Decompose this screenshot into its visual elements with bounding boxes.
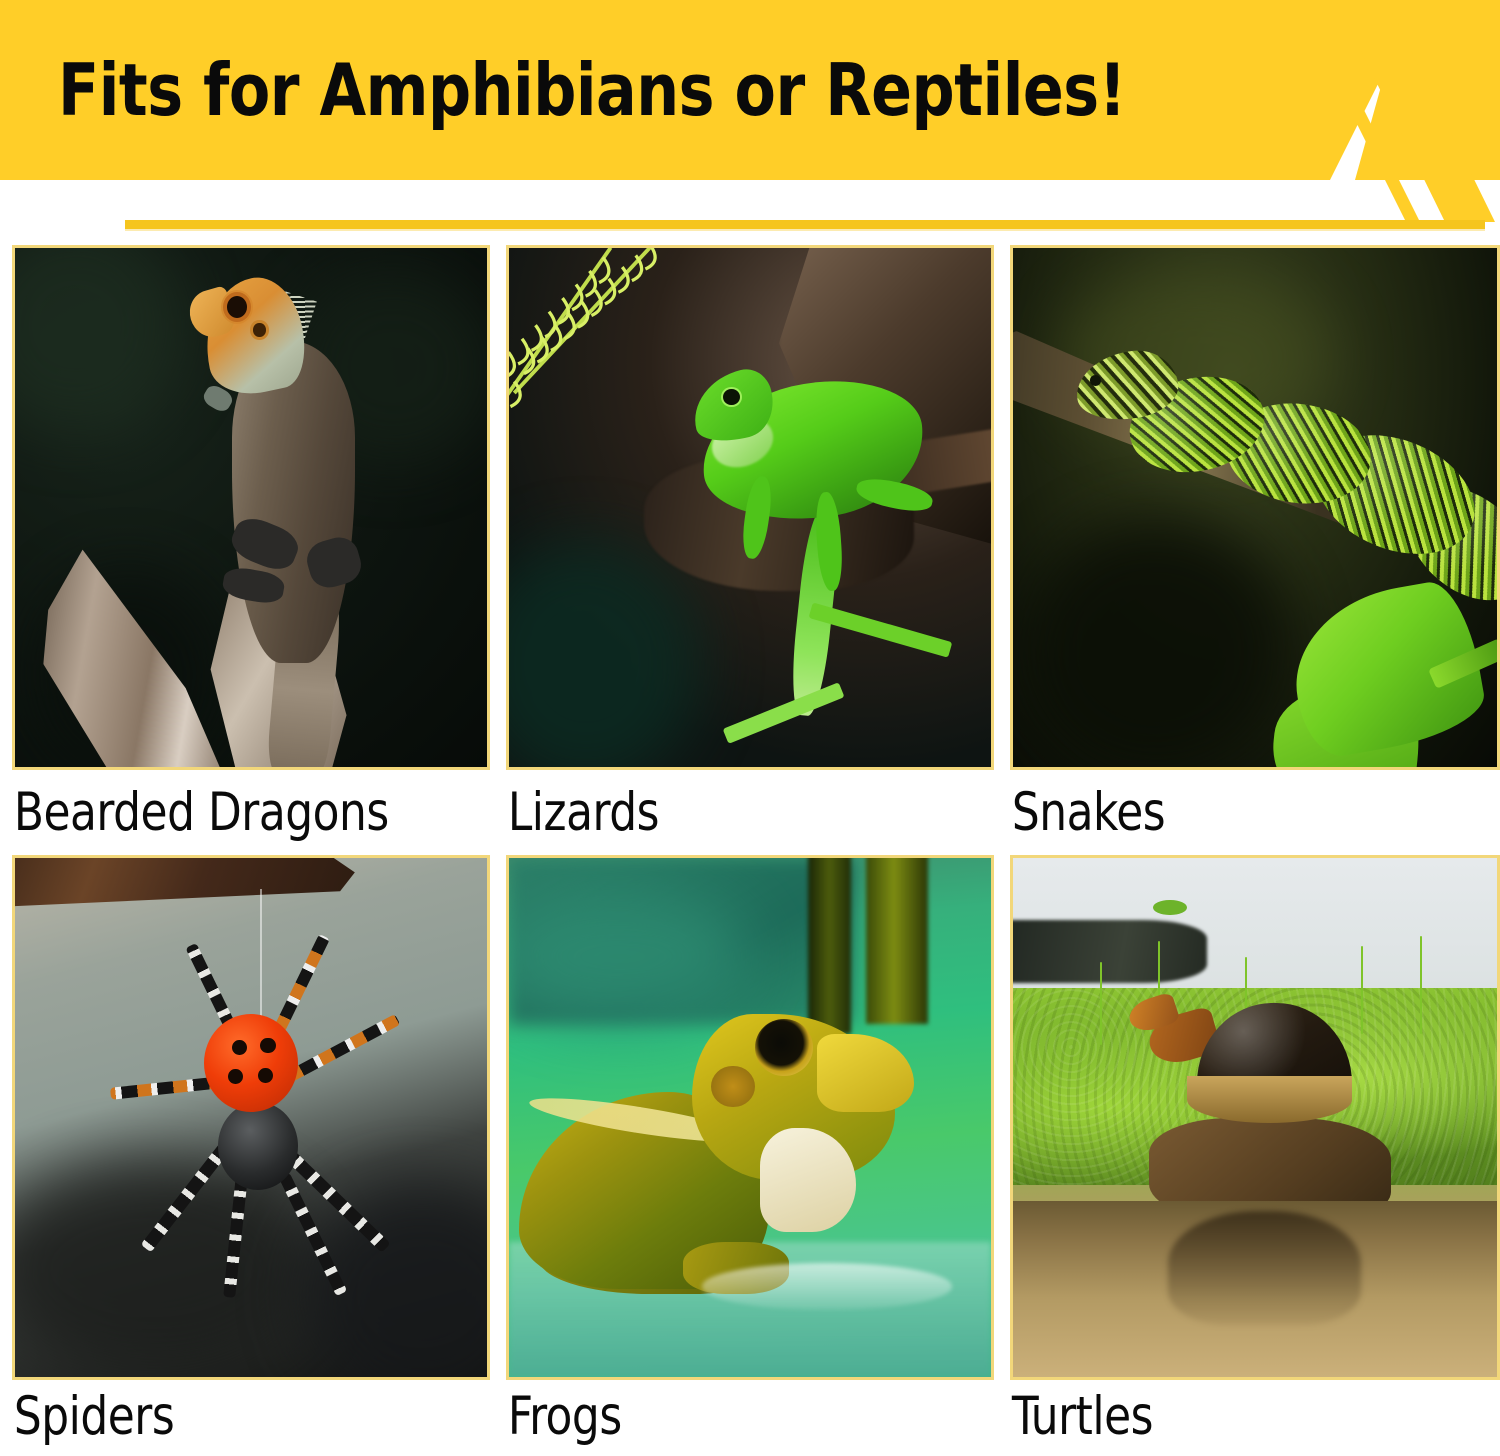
caption-spiders: Spiders xyxy=(12,1380,452,1442)
photo-turtle xyxy=(1013,858,1497,1377)
tile-frogs[interactable] xyxy=(506,855,994,1380)
caption-frogs: Frogs xyxy=(506,1380,955,1442)
caption-snakes: Snakes xyxy=(1010,770,1461,855)
photo-bearded-dragon xyxy=(15,248,487,767)
tile-bearded-dragons[interactable] xyxy=(12,245,490,770)
tile-spiders[interactable] xyxy=(12,855,490,1380)
photo-snake xyxy=(1013,248,1497,767)
caption-turtles: Turtles xyxy=(1010,1380,1461,1442)
photo-frog xyxy=(509,858,991,1377)
tile-lizards[interactable] xyxy=(506,245,994,770)
caption-bearded-dragons: Bearded Dragons xyxy=(12,770,452,855)
tile-snakes[interactable] xyxy=(1010,245,1500,770)
header-banner: Fits for Amphibians or Reptiles! xyxy=(0,0,1500,232)
photo-spider xyxy=(15,858,487,1377)
chevron-shape-icon xyxy=(1290,0,1500,232)
banner-chevron-decoration xyxy=(1290,0,1500,232)
photo-lizard xyxy=(509,248,991,767)
tile-turtles[interactable] xyxy=(1010,855,1500,1380)
animal-category-grid: Bearded Dragons Lizards Snakes xyxy=(12,245,1488,1445)
accent-bar xyxy=(125,220,1485,229)
fern-decoration xyxy=(509,248,658,528)
caption-lizards: Lizards xyxy=(506,770,955,855)
page-title: Fits for Amphibians or Reptiles! xyxy=(58,48,1126,132)
